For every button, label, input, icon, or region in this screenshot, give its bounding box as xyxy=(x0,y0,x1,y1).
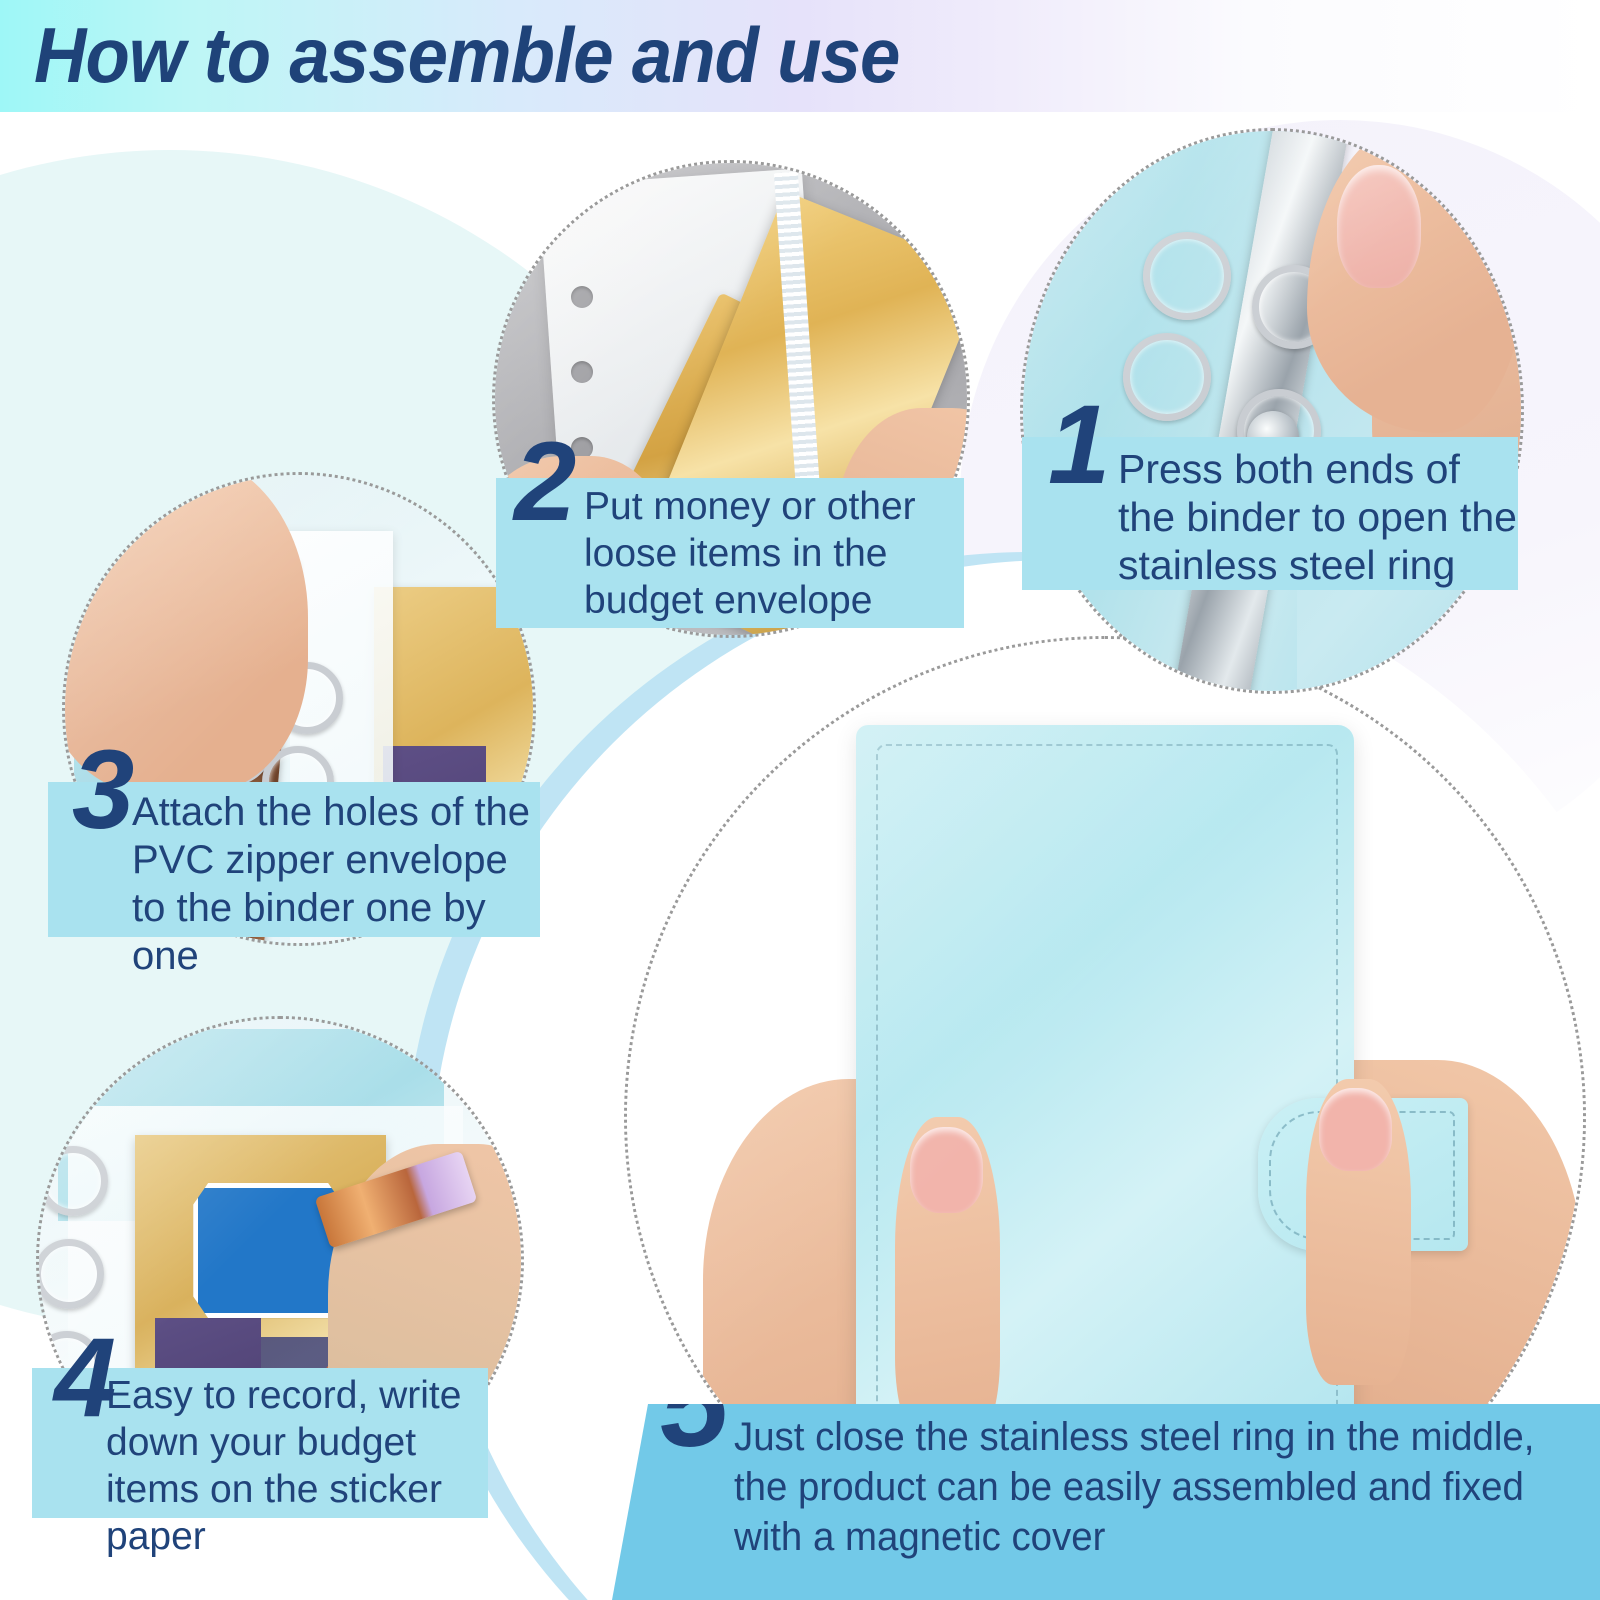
step-1-caption-band: 1 Press both ends of the binder to open … xyxy=(1022,437,1518,590)
step-4-text: Easy to record, write down your budget i… xyxy=(106,1372,492,1560)
step-5-text: Just close the stainless steel ring in t… xyxy=(734,1412,1567,1562)
step-2-number: 2 xyxy=(514,426,576,538)
step-3-number: 3 xyxy=(72,734,134,846)
step-5-caption-band: 5 Just close the stainless steel ring in… xyxy=(612,1404,1600,1600)
page-title: How to assemble and use xyxy=(34,14,899,96)
step-1-text: Press both ends of the binder to open th… xyxy=(1118,445,1518,589)
step-2-caption-band: 2 Put money or other loose items in the … xyxy=(496,478,964,628)
step-2-text: Put money or other loose items in the bu… xyxy=(584,483,962,624)
header-banner: How to assemble and use xyxy=(0,0,1600,112)
step-4-caption-band: 4 Easy to record, write down your budget… xyxy=(32,1368,488,1518)
step-3-text: Attach the holes of the PVC zipper envel… xyxy=(132,788,542,980)
infographic-canvas: How to assemble and use xyxy=(0,0,1600,1600)
step-1-number: 1 xyxy=(1048,389,1110,501)
step-3-caption-band: 3 Attach the holes of the PVC zipper env… xyxy=(48,782,540,937)
